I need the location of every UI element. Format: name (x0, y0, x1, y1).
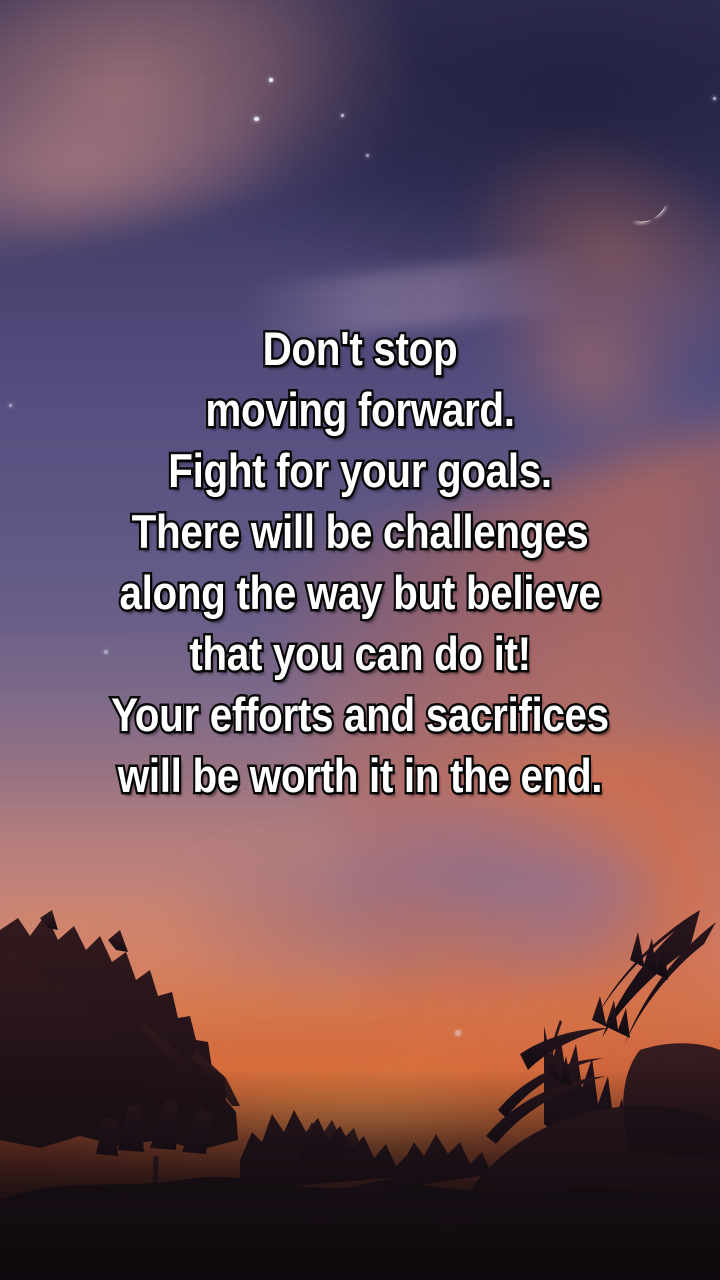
quote-line: Fight for your goals. (50, 440, 669, 501)
star-icon (713, 97, 716, 100)
quote-line: Don't stop (50, 318, 669, 379)
quote-line: that you can do it! (50, 623, 669, 684)
star-icon (455, 1030, 461, 1036)
star-icon (341, 114, 344, 117)
star-icon (269, 78, 273, 82)
quote-block: Don't stop moving forward. Fight for you… (0, 318, 720, 806)
quote-line: Your efforts and sacrifices (50, 684, 669, 745)
quote-line: along the way but believe (50, 562, 669, 623)
wallpaper-canvas: Don't stop moving forward. Fight for you… (0, 0, 720, 1280)
horizon-glow (60, 1055, 680, 1175)
quote-line: moving forward. (50, 379, 669, 440)
quote-line: will be worth it in the end. (50, 745, 669, 806)
quote-line: There will be challenges (50, 501, 669, 562)
star-icon (254, 117, 259, 121)
star-icon (366, 154, 369, 157)
